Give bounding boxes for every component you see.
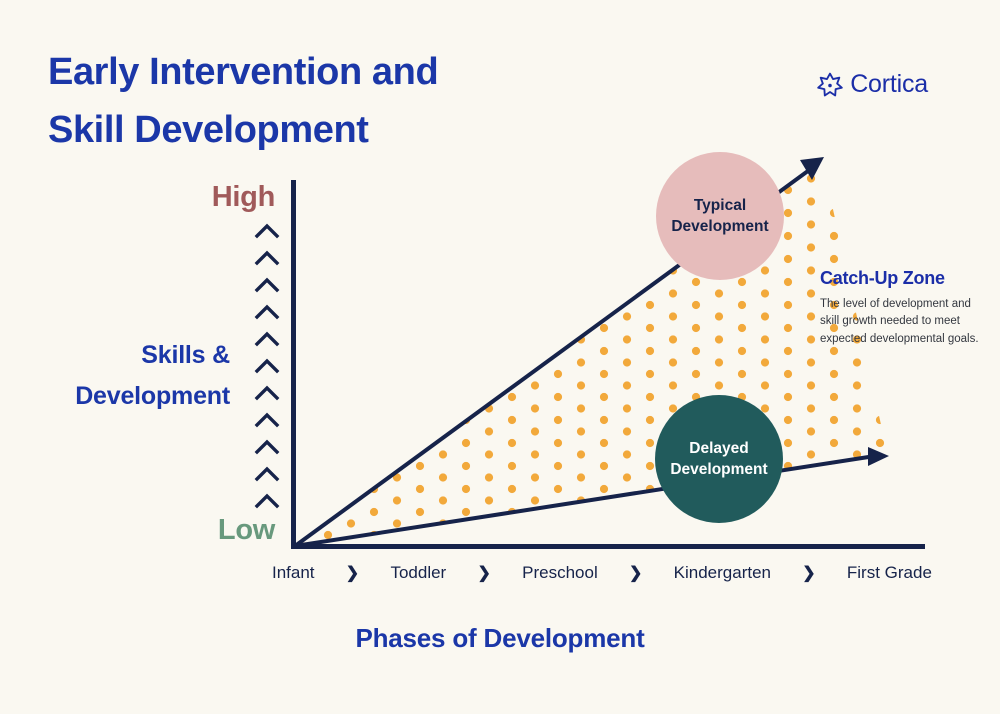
phase-label-row: Infant ❯ Toddler ❯ Preschool ❯ Kindergar… [272, 563, 932, 583]
delayed-development-bubble[interactable]: Delayed Development [655, 395, 783, 523]
phase-label-preschool: Preschool [522, 563, 598, 583]
y-axis-low-label: Low [120, 514, 275, 547]
y-axis-title: Skills & Development [0, 335, 230, 416]
infographic-canvas: Early Intervention and Skill Development… [0, 0, 1000, 714]
x-axis-title: Phases of Development [0, 623, 1000, 654]
catch-up-zone-callout: Catch-Up Zone The level of development a… [820, 268, 988, 348]
phase-label-toddler: Toddler [390, 563, 446, 583]
phase-label-kindergarten: Kindergarten [674, 563, 771, 583]
y-axis-high-label: High [120, 181, 275, 214]
y-axis-tick-chevrons [257, 226, 277, 506]
phase-label-infant: Infant [272, 563, 315, 583]
phase-separator-icon-3: ❯ [629, 563, 642, 583]
phase-separator-icon-2: ❯ [477, 563, 490, 583]
typical-development-bubble[interactable]: Typical Development [656, 152, 784, 280]
phase-separator-icon-1: ❯ [346, 563, 359, 583]
phase-separator-icon-4: ❯ [802, 563, 815, 583]
phase-label-first-grade: First Grade [847, 563, 932, 583]
catch-up-zone-dot-fill [290, 150, 910, 555]
catch-up-zone-title: Catch-Up Zone [820, 268, 988, 289]
catch-up-zone-description: The level of development and skill growt… [820, 296, 988, 348]
